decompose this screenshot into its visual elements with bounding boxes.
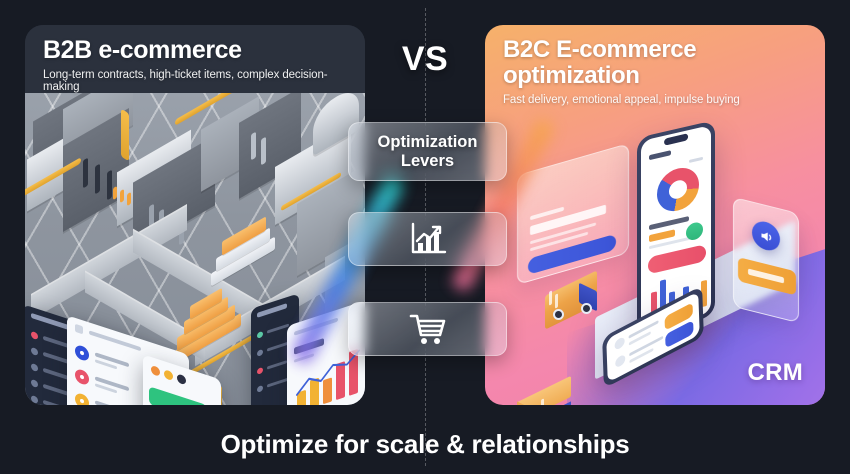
right-panel-subtitle: Fast delivery, emotional appeal, impulse… bbox=[503, 94, 807, 106]
left-panel-title: B2B e-commerce bbox=[43, 37, 347, 64]
app-meta bbox=[689, 157, 703, 163]
left-header: B2B e-commerce Long-term contracts, high… bbox=[25, 25, 365, 93]
megaphone-icon bbox=[752, 219, 780, 254]
window-strip bbox=[251, 132, 256, 161]
chart-subtitle bbox=[294, 353, 314, 362]
nav-dot bbox=[31, 379, 38, 388]
nav-dot bbox=[257, 331, 263, 339]
nav-label bbox=[267, 323, 289, 333]
left-panel-subtitle: Long-term contracts, high-ticket items, … bbox=[43, 69, 347, 93]
nav-dot bbox=[257, 367, 263, 375]
row-label bbox=[95, 400, 129, 405]
status-dot-orange[interactable] bbox=[151, 365, 160, 377]
confirm-button[interactable] bbox=[686, 221, 703, 242]
status-dot-dark[interactable] bbox=[177, 373, 186, 385]
shopping-cart-icon bbox=[408, 311, 448, 347]
right-panel-title: B2C E-commerce optimization bbox=[503, 37, 807, 89]
left-panel-b2b: B2B e-commerce Long-term contracts, high… bbox=[25, 25, 365, 405]
pallet-stack bbox=[211, 221, 275, 281]
optimization-levers-label: Optimization Levers bbox=[370, 133, 486, 171]
right-header: B2C E-commerce optimization Fast deliver… bbox=[485, 25, 825, 106]
truck-wheel bbox=[553, 309, 564, 320]
pallet-stack bbox=[171, 295, 241, 357]
chart-headline bbox=[294, 338, 324, 355]
window-strip bbox=[261, 137, 266, 166]
floating-card-right bbox=[733, 197, 799, 323]
promo-badge bbox=[738, 257, 796, 295]
logo-placeholder bbox=[257, 303, 287, 318]
menu-icon bbox=[75, 324, 83, 335]
floating-card-left bbox=[517, 143, 629, 285]
truck-stripe bbox=[555, 293, 558, 308]
analytics-lever-card[interactable] bbox=[348, 212, 507, 266]
metric-label bbox=[649, 216, 689, 230]
nav-dot bbox=[31, 331, 38, 340]
nav-dot bbox=[31, 395, 38, 404]
right-panel-b2c: B2C E-commerce optimization Fast deliver… bbox=[485, 25, 825, 405]
crm-badge: CRM bbox=[747, 359, 803, 387]
primary-cta-button[interactable] bbox=[648, 244, 706, 274]
comparison-infographic: B2B e-commerce Long-term contracts, high… bbox=[0, 0, 850, 474]
optimization-levers-card[interactable]: Optimization Levers bbox=[348, 122, 507, 181]
window-strip bbox=[95, 164, 100, 195]
center-column: VS Optimization Levers bbox=[365, 0, 485, 474]
left-illustration-factory bbox=[25, 93, 365, 405]
phone-notch bbox=[664, 133, 688, 145]
truck-wheel bbox=[581, 303, 592, 314]
nav-label bbox=[267, 360, 287, 369]
truck-stripe bbox=[549, 290, 552, 305]
nav-dot bbox=[31, 347, 38, 356]
delivery-truck-secondary bbox=[505, 397, 551, 405]
nav-dot bbox=[31, 363, 38, 372]
nav-dot bbox=[257, 385, 263, 393]
primary-action-button[interactable] bbox=[149, 386, 207, 405]
delivery-truck bbox=[545, 283, 597, 317]
vs-label: VS bbox=[365, 40, 485, 79]
list-avatar bbox=[614, 336, 624, 351]
window-strip bbox=[107, 170, 112, 201]
bar-chart-trend-icon bbox=[408, 221, 448, 257]
promo-badge-label bbox=[748, 269, 784, 284]
app-logo bbox=[649, 150, 671, 160]
commerce-lever-card[interactable] bbox=[348, 302, 507, 356]
pipe-vertical bbox=[121, 109, 129, 162]
window-strip bbox=[83, 158, 88, 189]
donut-chart bbox=[657, 164, 699, 216]
nav-dot bbox=[257, 349, 263, 357]
status-dot-yellow[interactable] bbox=[164, 369, 173, 381]
list-avatar bbox=[615, 354, 625, 369]
